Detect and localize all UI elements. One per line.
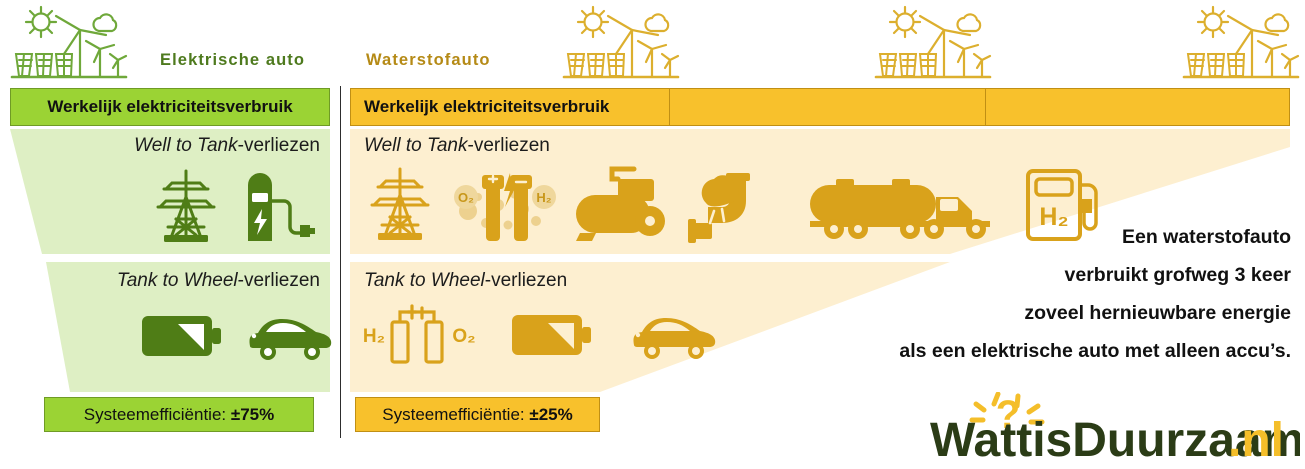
fuel-cell-icon: H₂ O₂ (364, 304, 476, 366)
ev-charging-station-icon (240, 167, 320, 247)
power-pylon-icon (150, 167, 222, 247)
electrolyser-icon: O₂ H₂ (452, 165, 558, 245)
logo-artwork: ? WattisDuurzaam .nl (930, 392, 1300, 464)
efficiency-text-hydrogen: Systeemefficiëntie: ±25% (382, 405, 572, 425)
efficiency-chip-hydrogen: Systeemefficiëntie: ±25% (355, 397, 600, 432)
renewable-energy-icon-hydrogen-1 (560, 4, 682, 82)
tank-to-wheel-caption-hydrogen: Tank to Wheel-verliezen (364, 270, 567, 292)
renewable-energy-icon-hydrogen-2 (872, 4, 994, 82)
efficiency-chip-electric: Systeemefficiëntie: ±75% (44, 397, 314, 432)
efficiency-text-electric: Systeemefficiëntie: ±75% (84, 405, 274, 425)
logo-tld: .nl (1228, 414, 1284, 464)
consumption-bar-label-electric: Werkelijk elektriciteitsverbruik (11, 97, 329, 117)
tank-to-wheel-panel-electric: Tank to Wheel-verliezen (0, 262, 330, 392)
infographic-canvas: Elektrische auto Waterstofauto (0, 0, 1305, 469)
conclusion-text: Een waterstofauto verbruikt grofweg 3 ke… (861, 218, 1291, 370)
pipeline-leak-icon (686, 165, 790, 245)
car-icon (628, 309, 720, 361)
consumption-bar-label-hydrogen: Werkelijk elektriciteitsverbruik (351, 97, 609, 117)
consumption-bar-hydrogen: Werkelijk elektriciteitsverbruik (350, 88, 670, 126)
battery-icon (510, 309, 594, 361)
wattisduurzaam-logo[interactable]: ? WattisDuurzaam .nl (930, 392, 1300, 464)
column-divider (340, 86, 341, 438)
conclusion-line-2: verbruikt grofweg 3 keer (861, 256, 1291, 294)
renewable-energy-icon-electric (8, 4, 130, 82)
svg-text:O₂: O₂ (458, 190, 474, 205)
well-to-tank-panel-electric: Well to Tank-verliezen (0, 129, 330, 254)
svg-text:H₂: H₂ (364, 326, 385, 347)
consumption-bar-segment-2 (669, 88, 986, 126)
svg-text:H₂: H₂ (536, 190, 551, 205)
renewable-energy-icon-hydrogen-3 (1180, 4, 1302, 82)
conclusion-line-1: Een waterstofauto (861, 218, 1291, 256)
column-title-hydrogen: Waterstofauto (366, 51, 491, 70)
power-pylon-icon (364, 165, 436, 245)
consumption-bar-electric: Werkelijk elektriciteitsverbruik (10, 88, 330, 126)
tank-to-wheel-icons-hydrogen: H₂ O₂ (364, 304, 720, 366)
well-to-tank-caption-hydrogen: Well to Tank-verliezen (364, 135, 550, 157)
consumption-bar-segment-3 (985, 88, 1290, 126)
conclusion-line-3: zoveel hernieuwbare energie (861, 294, 1291, 332)
compressor-icon (574, 165, 670, 245)
well-to-tank-icons-electric (150, 167, 320, 247)
conclusion-line-4: als een elektrische auto met alleen accu… (861, 332, 1291, 370)
column-title-electric: Elektrische auto (160, 51, 305, 70)
tank-to-wheel-icons-electric (140, 310, 336, 362)
tank-to-wheel-caption-electric: Tank to Wheel-verliezen (117, 270, 320, 292)
battery-icon (140, 310, 224, 362)
car-icon (244, 310, 336, 362)
well-to-tank-caption-electric: Well to Tank-verliezen (134, 135, 320, 157)
svg-text:O₂: O₂ (452, 326, 475, 347)
